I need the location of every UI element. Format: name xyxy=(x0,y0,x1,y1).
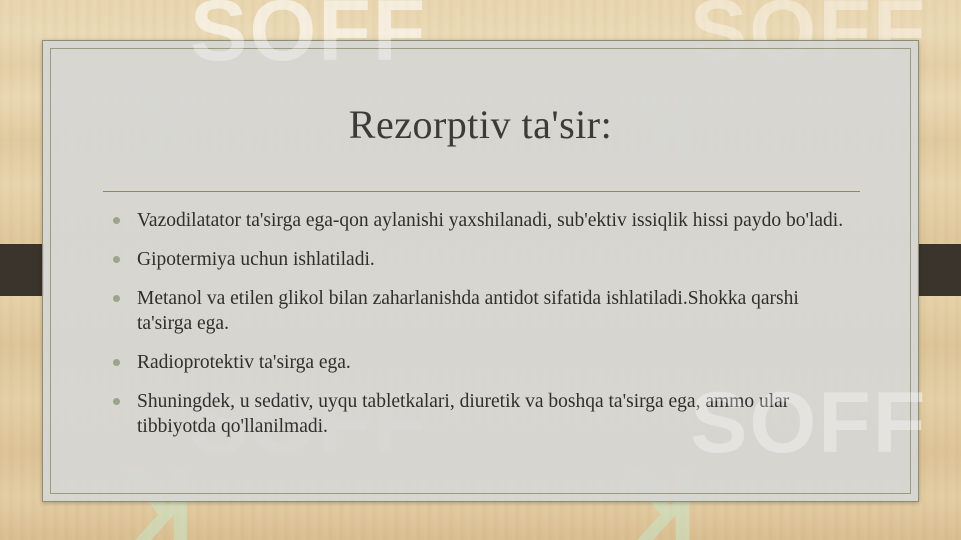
list-item: Gipotermiya uchun ishlatiladi. xyxy=(105,248,858,273)
right-accent-bar xyxy=(917,244,961,296)
slide-title: Rezorptiv ta'sir: xyxy=(43,101,918,148)
list-item-text: Radioprotektiv ta'sirga ega. xyxy=(137,351,858,376)
bullet-dot-icon xyxy=(113,295,120,302)
list-item: Vazodilatator ta'sirga ega-qon aylanishi… xyxy=(105,209,858,234)
list-item-text: Metanol va etilen glikol bilan zaharlani… xyxy=(137,287,858,337)
list-item: Shuningdek, u sedativ, uyqu tabletkalari… xyxy=(105,390,858,440)
list-item: Radioprotektiv ta'sirga ega. xyxy=(105,351,858,376)
bullet-dot-icon xyxy=(113,359,120,366)
title-divider xyxy=(103,191,860,192)
bullet-dot-icon xyxy=(113,256,120,263)
content-card: Rezorptiv ta'sir: Vazodilatator ta'sirga… xyxy=(42,40,919,502)
list-item-text: Vazodilatator ta'sirga ega-qon aylanishi… xyxy=(137,209,858,234)
bullet-dot-icon xyxy=(113,398,120,405)
bullet-dot-icon xyxy=(113,217,120,224)
list-item-text: Gipotermiya uchun ishlatiladi. xyxy=(137,248,858,273)
list-item-text: Shuningdek, u sedativ, uyqu tabletkalari… xyxy=(137,390,858,440)
list-item: Metanol va etilen glikol bilan zaharlani… xyxy=(105,287,858,337)
left-accent-bar xyxy=(0,244,44,296)
slide: Ʞ SOFF Ʞ SOFF Ʞ SOFF Ʞ SOFF Rezorptiv ta… xyxy=(0,0,961,540)
bullet-list: Vazodilatator ta'sirga ega-qon aylanishi… xyxy=(105,209,858,454)
